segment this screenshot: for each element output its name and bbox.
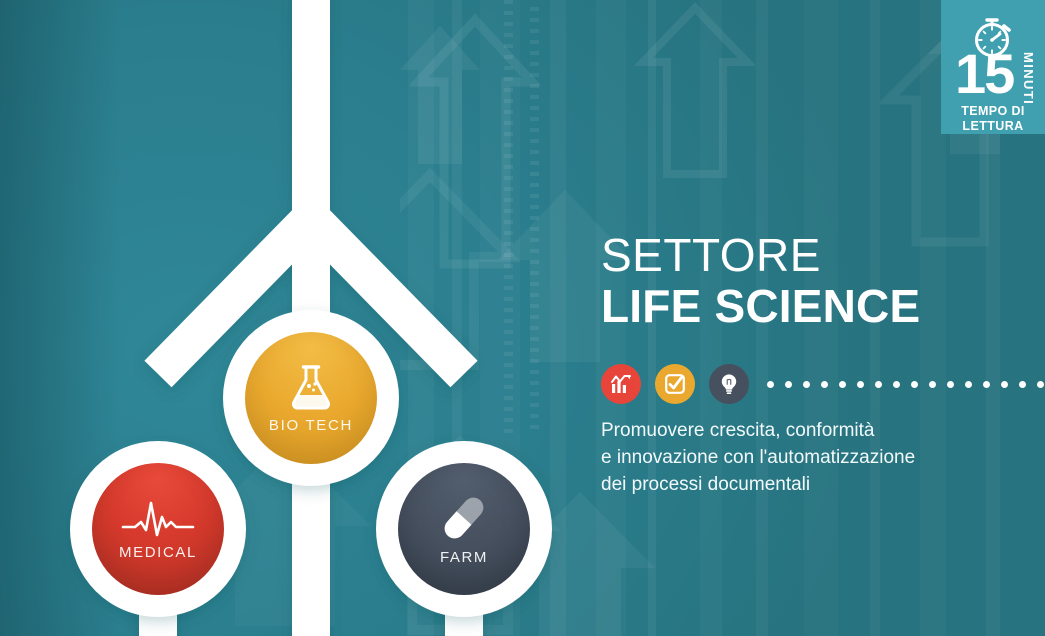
- subtitle-line2: e innovazione con l'automatizzazione: [601, 445, 1031, 472]
- subtitle-block: Promuovere crescita, conformità e innova…: [601, 418, 1031, 499]
- page-title-line2: LIFE SCIENCE: [601, 282, 1045, 330]
- subtitle-line1: Promuovere crescita, conformità: [601, 418, 1031, 445]
- node-biotech-label: BIO TECH: [269, 417, 353, 434]
- dotted-rule: [767, 381, 1045, 388]
- node-biotech[interactable]: BIO TECH: [245, 332, 377, 464]
- reading-time-caption: TEMPO DI LETTURA: [941, 104, 1045, 134]
- checkbox-check-icon[interactable]: [655, 364, 695, 404]
- flask-icon: [287, 362, 335, 417]
- node-medical-disc[interactable]: MEDICAL: [92, 463, 224, 595]
- node-farm-label: FARM: [440, 549, 488, 566]
- reading-time-caption-line1: TEMPO DI: [941, 104, 1045, 119]
- reading-time-badge: 15 MINUTI TEMPO DI LETTURA: [941, 0, 1045, 134]
- node-medical[interactable]: MEDICAL: [92, 463, 224, 595]
- reading-time-caption-line2: LETTURA: [941, 119, 1045, 134]
- poster-canvas: BIO TECH MEDICAL FARM: [0, 0, 1045, 636]
- reading-time-unit: MINUTI: [1022, 52, 1035, 105]
- heartbeat-icon: [121, 497, 195, 544]
- node-farm-disc[interactable]: FARM: [398, 463, 530, 595]
- headline-block: SETTORE LIFE SCIENCE: [601, 232, 1045, 330]
- growth-chart-icon[interactable]: [601, 364, 641, 404]
- feature-icon-row: [601, 363, 1045, 405]
- node-biotech-disc[interactable]: BIO TECH: [245, 332, 377, 464]
- page-title-line1: SETTORE: [601, 232, 1045, 278]
- lightbulb-icon[interactable]: [709, 364, 749, 404]
- subtitle-line3: dei processi documentali: [601, 472, 1031, 499]
- pill-capsule-icon: [439, 492, 489, 549]
- reading-time-number: 15: [955, 46, 1013, 102]
- node-medical-label: MEDICAL: [119, 544, 197, 561]
- node-farm[interactable]: FARM: [398, 463, 530, 595]
